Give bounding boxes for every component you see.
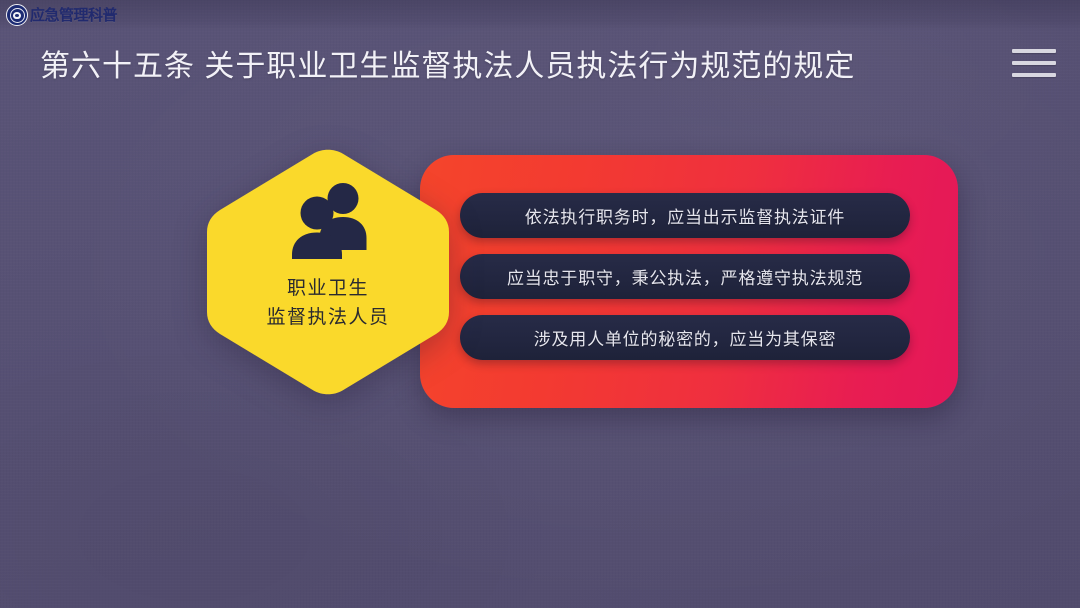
hexagon-labels: 职业卫生 监督执法人员 — [266, 274, 389, 333]
menu-bar-2 — [1012, 61, 1056, 65]
rule-list: 依法执行职务时，应当出示监督执法证件 应当忠于职守，秉公执法，严格遵守执法规范 … — [460, 193, 910, 360]
two-people-icon — [285, 182, 371, 260]
brand-name: 应急管理科普 — [30, 8, 117, 23]
badge-core — [13, 12, 21, 19]
hexagon-label-line2: 监督执法人员 — [266, 303, 389, 332]
list-item[interactable]: 涉及用人单位的秘密的，应当为其保密 — [460, 315, 910, 360]
hexagon-label-line1: 职业卫生 — [266, 274, 389, 303]
brand-strip: 应急管理科普 — [0, 0, 1080, 30]
emergency-management-badge-icon — [6, 4, 28, 26]
rule-text: 涉及用人单位的秘密的，应当为其保密 — [534, 325, 837, 350]
slide-canvas: 应急管理科普 第六十五条 关于职业卫生监督执法人员执法行为规范的规定 依法执行职… — [0, 0, 1080, 608]
header: 第六十五条 关于职业卫生监督执法人员执法行为规范的规定 — [0, 30, 1080, 96]
menu-bar-3 — [1012, 73, 1056, 77]
menu-bar-1 — [1012, 49, 1056, 53]
subject-hexagon: 职业卫生 监督执法人员 — [205, 148, 451, 396]
list-item[interactable]: 依法执行职务时，应当出示监督执法证件 — [460, 193, 910, 238]
rule-text: 依法执行职务时，应当出示监督执法证件 — [525, 203, 845, 228]
content-panel: 依法执行职务时，应当出示监督执法证件 应当忠于职守，秉公执法，严格遵守执法规范 … — [420, 155, 958, 408]
rule-text: 应当忠于职守，秉公执法，严格遵守执法规范 — [507, 264, 863, 289]
page-title: 第六十五条 关于职业卫生监督执法人员执法行为规范的规定 — [40, 41, 855, 85]
hexagon-content: 职业卫生 监督执法人员 — [205, 148, 451, 396]
list-item[interactable]: 应当忠于职守，秉公执法，严格遵守执法规范 — [460, 254, 910, 299]
hamburger-menu-icon[interactable] — [1012, 45, 1058, 81]
